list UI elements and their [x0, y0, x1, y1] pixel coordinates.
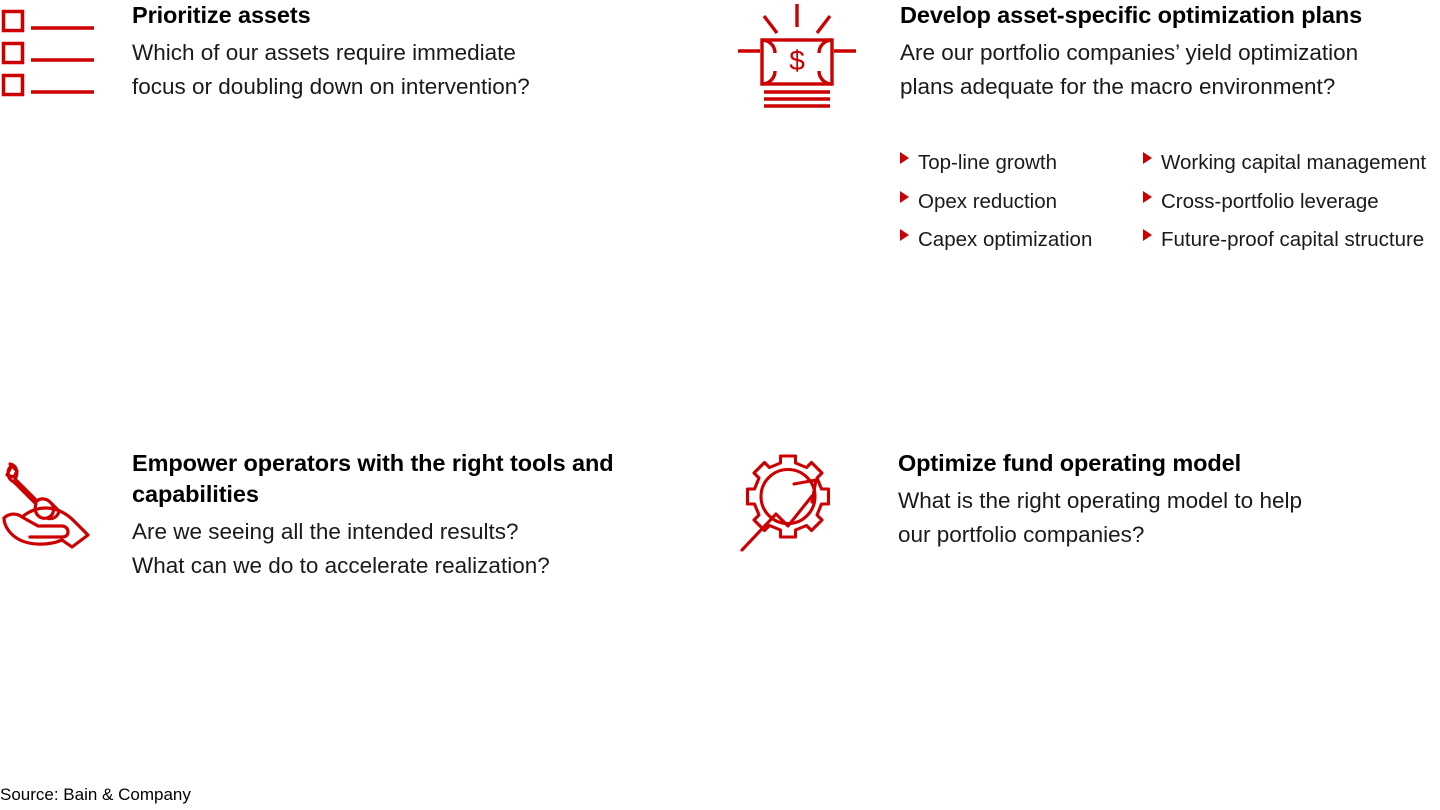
- card-body-line: Which of our assets require immediate: [132, 36, 720, 70]
- hand-wrench-icon-slot: [0, 448, 132, 548]
- source-note: Source: Bain & Company: [0, 785, 191, 805]
- card-optimize-fund-operating-model: Optimize fund operating model What is th…: [720, 448, 1440, 558]
- card-body-line: What is the right operating model to hel…: [898, 484, 1440, 518]
- list-item-label: Capex optimization: [918, 226, 1092, 254]
- list-item: Cross-portfolio leverage: [1143, 188, 1440, 216]
- card-title: Optimize fund operating model: [898, 448, 1440, 479]
- triangle-bullet-icon: [900, 229, 909, 241]
- triangle-bullet-icon: [900, 191, 909, 203]
- list-item: Top-line growth: [900, 149, 1143, 177]
- gear-growth-icon: [732, 452, 844, 558]
- card-body-line: Are our portfolio companies’ yield optim…: [900, 36, 1440, 70]
- list-item-label: Working capital management: [1161, 149, 1426, 177]
- banknote-icon-slot: $: [720, 0, 900, 110]
- list-item: Future-proof capital structure: [1143, 226, 1440, 254]
- bullet-list: Top-line growth Working capital manageme…: [900, 149, 1440, 254]
- card-body-line: Are we seeing all the intended results?: [132, 515, 720, 549]
- card-body: What is the right operating model to hel…: [898, 484, 1440, 552]
- card-empower-operators: Empower operators with the right tools a…: [0, 448, 720, 583]
- list-item: Capex optimization: [900, 226, 1143, 254]
- triangle-bullet-icon: [1143, 152, 1152, 164]
- triangle-bullet-icon: [900, 152, 909, 164]
- triangle-bullet-icon: [1143, 229, 1152, 241]
- card-text-optimize-fund-operating-model: Optimize fund operating model What is th…: [898, 448, 1440, 552]
- list-item-label: Opex reduction: [918, 188, 1057, 216]
- card-body: Are our portfolio companies’ yield optim…: [900, 36, 1440, 104]
- list-item: Opex reduction: [900, 188, 1143, 216]
- card-body-line: plans adequate for the macro environment…: [900, 70, 1440, 104]
- svg-text:$: $: [789, 45, 805, 76]
- card-title-line: Empower operators with the right: [132, 450, 504, 476]
- list-item-label: Future-proof capital structure: [1161, 226, 1424, 254]
- card-body-line: our portfolio companies?: [898, 518, 1440, 552]
- card-title: Prioritize assets: [132, 0, 720, 31]
- list-item-label: Cross-portfolio leverage: [1161, 188, 1379, 216]
- card-body-line: focus or doubling down on intervention?: [132, 70, 720, 104]
- card-title-line: Develop asset-specific: [900, 2, 1151, 28]
- list-item: Working capital management: [1143, 149, 1440, 177]
- hand-wrench-icon: [0, 456, 102, 548]
- card-text-prioritize-assets: Prioritize assets Which of our assets re…: [132, 0, 720, 104]
- list-item-label: Top-line growth: [918, 149, 1057, 177]
- checklist-icon: [0, 2, 100, 102]
- card-body-line: What can we do to accelerate realization…: [132, 549, 720, 583]
- card-body: Which of our assets require immediate fo…: [132, 36, 720, 104]
- card-title-line: optimization plans: [1158, 2, 1362, 28]
- banknote-icon: $: [734, 2, 862, 110]
- card-title: Develop asset-specific optimization plan…: [900, 0, 1440, 31]
- card-text-empower-operators: Empower operators with the right tools a…: [132, 448, 720, 583]
- card-develop-optimization-plans: $ Develop asset-specific optimization pl…: [720, 0, 1440, 254]
- card-prioritize-assets: Prioritize assets Which of our assets re…: [0, 0, 720, 104]
- gear-growth-icon-slot: [720, 448, 898, 558]
- card-title: Empower operators with the right tools a…: [132, 448, 720, 510]
- checklist-icon-slot: [0, 0, 132, 102]
- card-text-develop-optimization-plans: Develop asset-specific optimization plan…: [900, 0, 1440, 254]
- card-body: Are we seeing all the intended results? …: [132, 515, 720, 583]
- triangle-bullet-icon: [1143, 191, 1152, 203]
